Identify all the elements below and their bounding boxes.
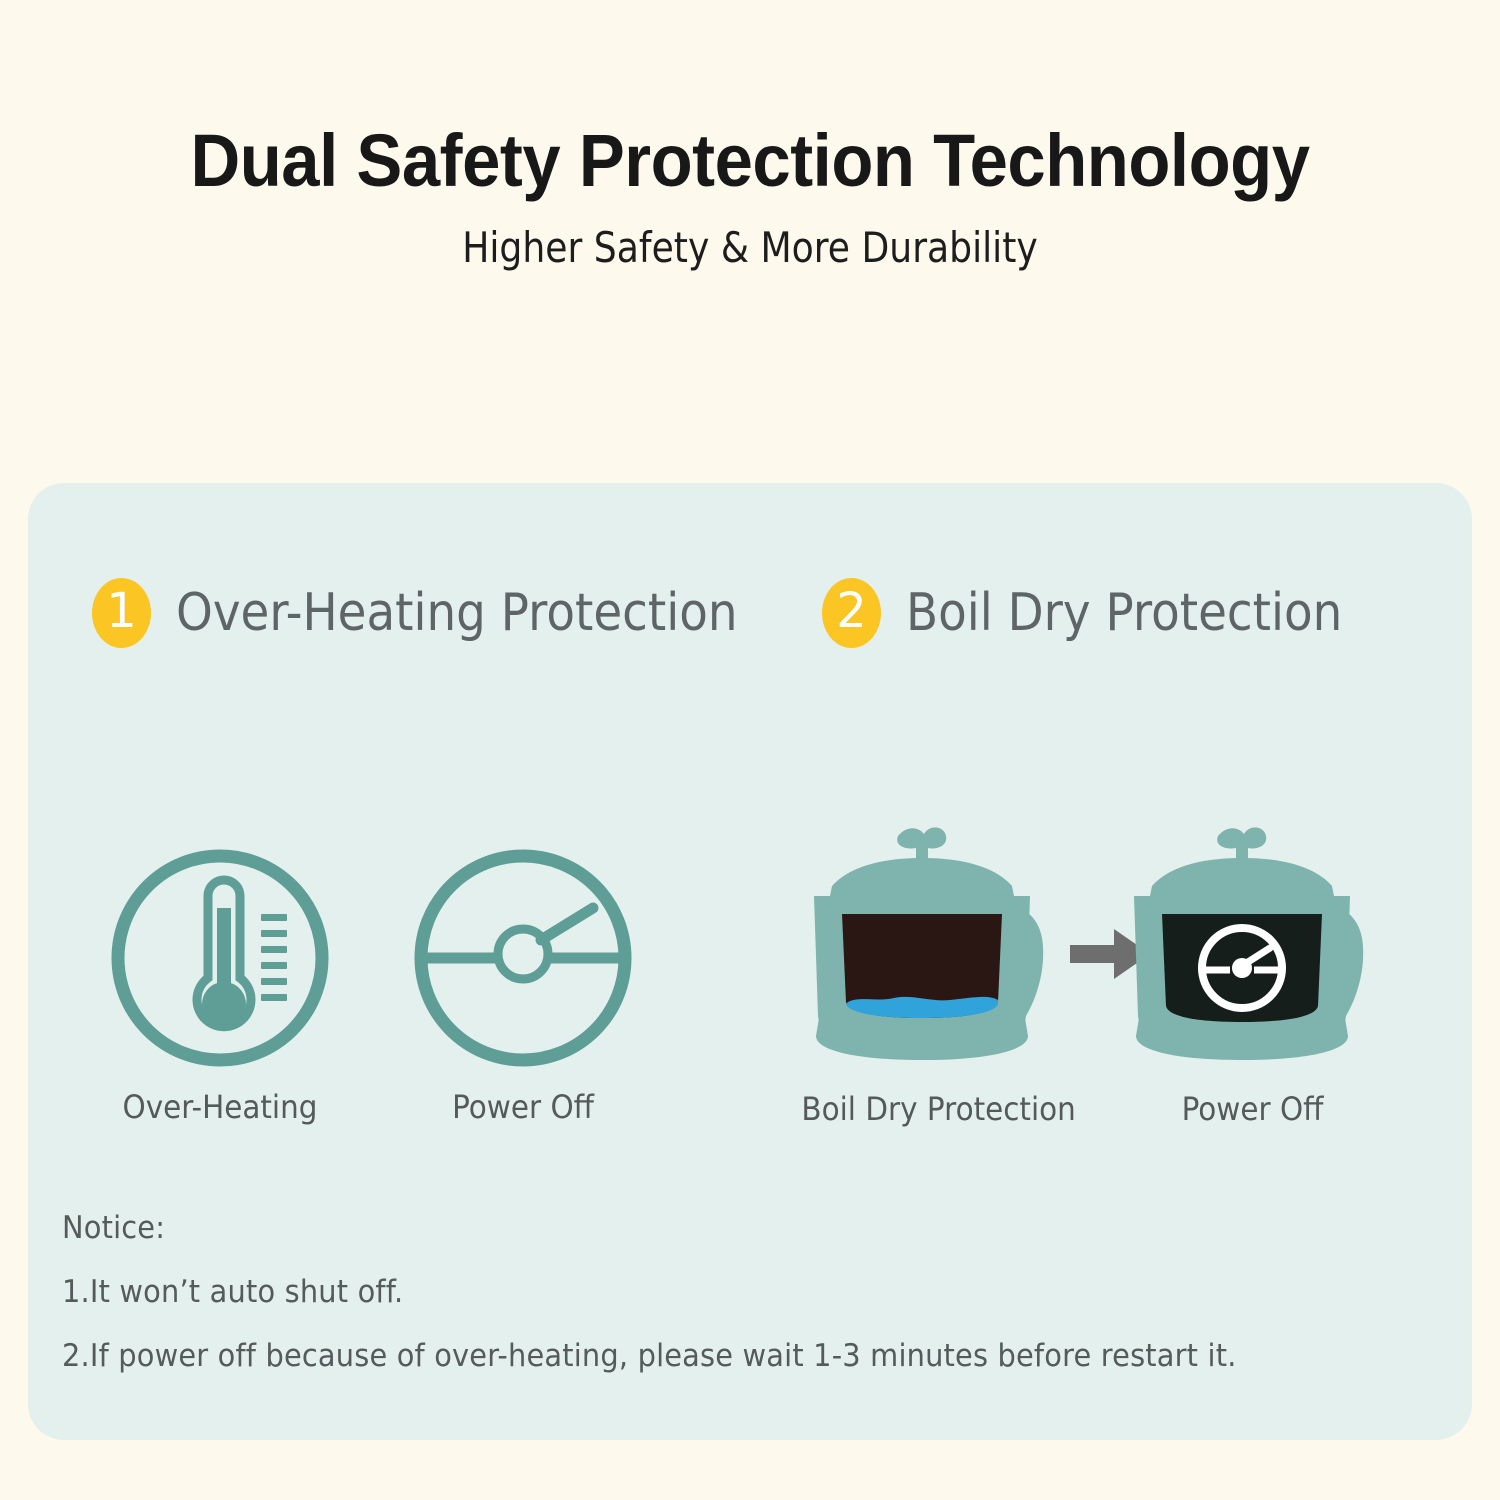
power-off-switch-circle-icon-svg [407, 842, 639, 1074]
page-subtitle: Higher Safety & More Durability [105, 223, 1395, 272]
kettle-powered-off-icon [1110, 820, 1395, 1076]
header: Dual Safety Protection Technology Higher… [0, 0, 1500, 470]
notice-block: Notice: 1.It won’t auto shut off. 2.If p… [62, 1210, 1462, 1374]
power-off-switch-circle-icon [363, 842, 683, 1074]
figure-power-off-2: Power Off [1110, 820, 1395, 1128]
figure-caption-power-off-2: Power Off [1121, 1090, 1383, 1128]
section-heading-boil-dry: 2 Boil Dry Protection [822, 578, 1391, 648]
thermometer-circle-icon [60, 842, 380, 1074]
section-heading-over-heating: 1 Over-Heating Protection [92, 578, 800, 648]
figure-caption-power-off-1: Power Off [376, 1088, 670, 1126]
section-heading-label-1: Over-Heating Protection [176, 583, 737, 643]
figure-over-heating: Over-Heating [60, 842, 380, 1126]
thermometer-circle-icon-svg [104, 842, 336, 1074]
figure-boil-dry-protection: Boil Dry Protection [790, 820, 1075, 1128]
notice-title: Notice: [62, 1210, 1364, 1246]
notice-item-1: 1.It won’t auto shut off. [62, 1274, 1364, 1310]
section-heading-label-2: Boil Dry Protection [906, 583, 1342, 643]
figure-power-off-1: Power Off [363, 842, 683, 1126]
page-title: Dual Safety Protection Technology [53, 118, 1448, 203]
figure-caption-over-heating: Over-Heating [73, 1088, 367, 1126]
notice-item-2: 2.If power off because of over-heating, … [62, 1338, 1364, 1374]
kettle-with-water-icon-svg [790, 820, 1075, 1076]
kettle-with-water-icon [790, 820, 1075, 1076]
badge-number-1: 1 [92, 578, 151, 648]
badge-number-2: 2 [822, 578, 881, 648]
kettle-powered-off-icon-svg [1110, 820, 1395, 1076]
figure-caption-boil-dry-protection: Boil Dry Protection [801, 1090, 1063, 1128]
